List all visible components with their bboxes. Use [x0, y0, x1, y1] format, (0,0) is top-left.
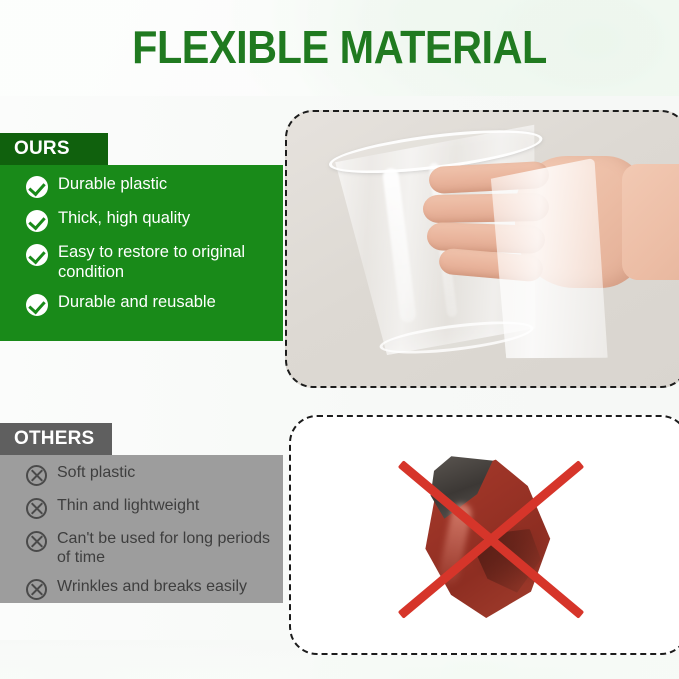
ours-panel: Durable plastic Thick, high quality Easy…	[0, 165, 283, 341]
list-item: Durable and reusable	[26, 292, 273, 316]
others-panel: Soft plastic Thin and lightweight Can't …	[0, 455, 283, 603]
others-feature-list: Soft plastic Thin and lightweight Can't …	[0, 455, 283, 600]
list-item: Thin and lightweight	[26, 496, 273, 519]
cross-circle-icon	[26, 498, 47, 519]
ours-feature-list: Durable plastic Thick, high quality Easy…	[0, 165, 283, 316]
wrist	[622, 164, 679, 280]
list-item-label: Can't be used for long periods of time	[57, 529, 273, 567]
crumpled-red-plastic-cup-photo	[289, 415, 679, 655]
cross-circle-icon	[26, 465, 47, 486]
others-header-tab: OTHERS	[0, 423, 112, 455]
red-x-mark-icon	[396, 459, 586, 619]
check-circle-icon	[26, 210, 48, 232]
list-item: Can't be used for long periods of time	[26, 529, 273, 567]
ours-header-tab: OURS	[0, 133, 108, 165]
list-item-label: Easy to restore to original condition	[58, 242, 273, 282]
list-item: Thick, high quality	[26, 208, 273, 232]
list-item-label: Thin and lightweight	[57, 496, 199, 515]
list-item: Soft plastic	[26, 463, 273, 486]
list-item-label: Thick, high quality	[58, 208, 190, 228]
list-item: Durable plastic	[26, 174, 273, 198]
list-item-label: Durable plastic	[58, 174, 167, 194]
cross-circle-icon	[26, 579, 47, 600]
list-item: Wrinkles and breaks easily	[26, 577, 273, 600]
list-item-label: Wrinkles and breaks easily	[57, 577, 247, 596]
check-circle-icon	[26, 294, 48, 316]
list-item-label: Soft plastic	[57, 463, 135, 482]
hand-graphic	[437, 156, 679, 306]
page-title: FLEXIBLE MATERIAL	[34, 22, 645, 72]
others-header-label: OTHERS	[14, 428, 94, 450]
hand-squeezing-clear-plastic-cup-photo	[285, 110, 679, 388]
list-item-label: Durable and reusable	[58, 292, 216, 312]
list-item: Easy to restore to original condition	[26, 242, 273, 282]
check-circle-icon	[26, 244, 48, 266]
ours-header-label: OURS	[14, 138, 70, 160]
check-circle-icon	[26, 176, 48, 198]
cross-circle-icon	[26, 531, 47, 552]
